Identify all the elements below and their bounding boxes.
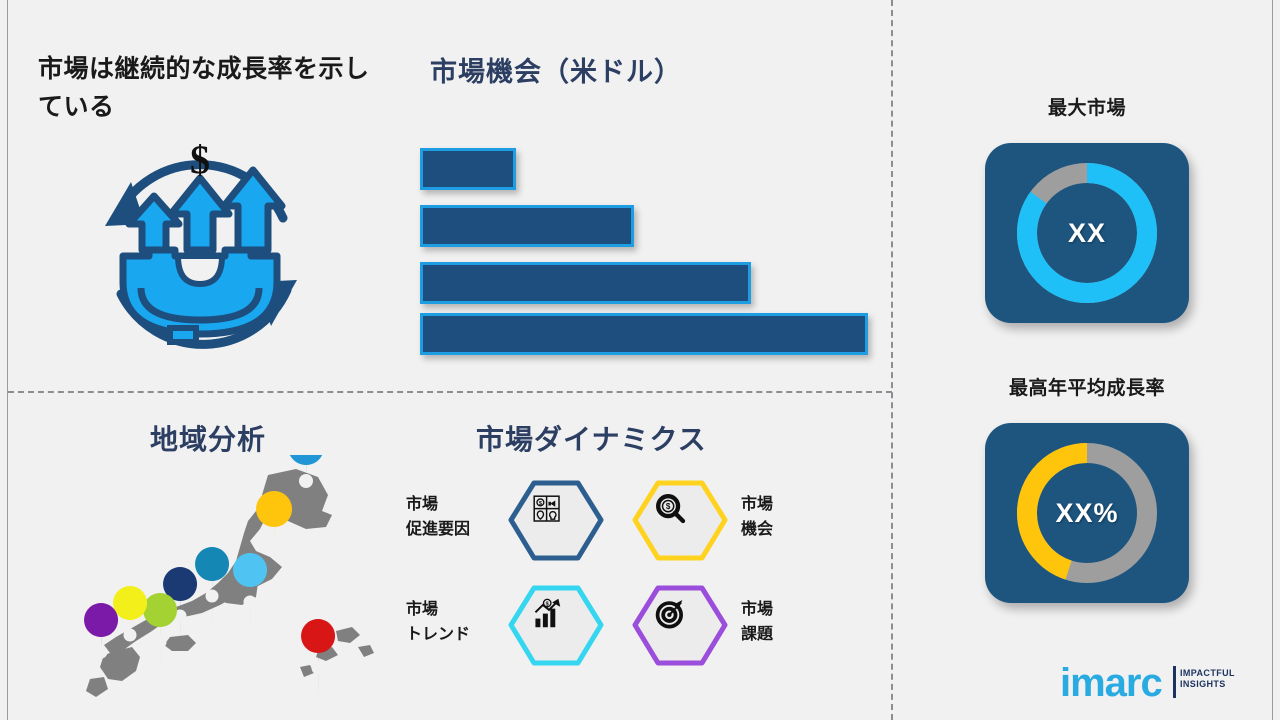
dynamics-item-2[interactable]: 市場 機会$ [630, 478, 840, 563]
largest-market-value: XX [985, 143, 1189, 323]
largest-market-title: 最大市場 [962, 93, 1212, 120]
largest-market-card: XX [985, 143, 1189, 323]
bar-chart-growth-icon[interactable]: $ [506, 583, 606, 668]
dynamics-item-label: 市場 課題 [741, 597, 836, 647]
imarc-wordmark: imarc [1060, 661, 1162, 704]
regional-panel-title: 地域分析 [150, 418, 266, 458]
dynamics-panel-title: 市場ダイナミクス [476, 418, 707, 458]
svg-text:$: $ [666, 502, 671, 511]
dynamics-item-label: 市場 トレンド [406, 597, 501, 647]
vertical-dashed-divider [891, 0, 893, 720]
growth-cycle-gear-icon: $ [75, 138, 325, 373]
pin-okinawa[interactable] [301, 619, 335, 702]
target-dart-icon[interactable] [630, 583, 730, 668]
growth-panel-title: 市場は継続的な成長率を示している [38, 50, 388, 126]
bar-2 [420, 205, 634, 247]
japan-map [60, 455, 380, 705]
magnifier-dollar-icon[interactable]: $ [630, 478, 730, 563]
dynamics-item-3[interactable]: 市場 トレンド$ [400, 583, 610, 668]
dynamics-item-1[interactable]: 市場 促進要因$ [400, 478, 610, 563]
dynamics-item-4[interactable]: 市場 課題 [630, 583, 840, 668]
market-opportunity-bar-chart [420, 145, 880, 360]
dynamics-grid: 市場 促進要因$市場 機会$市場 トレンド$市場 課題 [400, 478, 840, 678]
opportunity-panel-title: 市場機会（米ドル） [430, 50, 682, 89]
highest-cagr-card: XX% [985, 423, 1189, 603]
bar-4 [420, 313, 868, 355]
bar-3 [420, 262, 751, 304]
highest-cagr-title: 最高年平均成長率 [962, 373, 1212, 400]
pin-chugoku[interactable] [143, 593, 177, 676]
highest-cagr-value: XX% [985, 423, 1189, 603]
frame-right-border [1272, 0, 1273, 720]
logo-divider-bar [1173, 666, 1176, 698]
horizontal-dashed-divider [8, 391, 892, 393]
frame-left-border [7, 0, 8, 720]
infographic-canvas: 市場は継続的な成長率を示している $ 市場機会（米ドル） 地域分析 [0, 0, 1280, 720]
dollar-sign-glyph: $ [190, 138, 210, 182]
dynamics-item-label: 市場 促進要因 [406, 492, 501, 542]
dynamics-item-label: 市場 機会 [741, 492, 836, 542]
puzzle-pieces-icon[interactable]: $ [506, 478, 606, 563]
logo-tagline: IMPACTFUL INSIGHTS [1180, 668, 1235, 690]
bar-1 [420, 148, 516, 190]
